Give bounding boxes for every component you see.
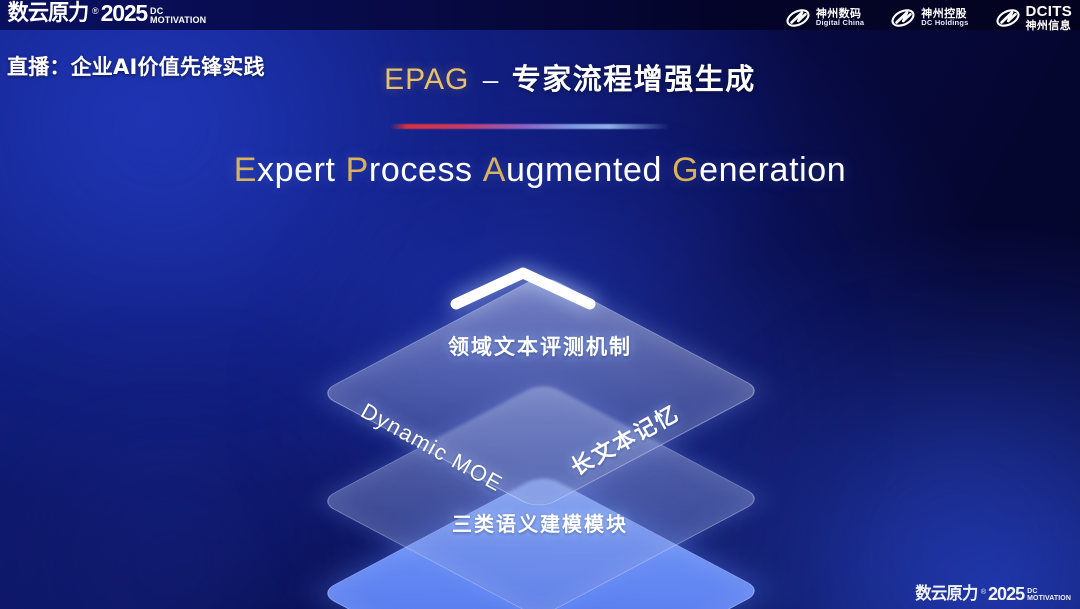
- subtitle-cap-e: E: [234, 151, 257, 189]
- logo-digital-china-text: 神州数码 Digital China: [816, 8, 864, 27]
- logo-dc-holdings: 神州控股 DC Holdings: [890, 7, 968, 29]
- dc-holdings-swoosh-icon: [890, 7, 916, 29]
- page-title-acronym: EPAG: [384, 63, 469, 96]
- watermark-registered-mark: ®: [981, 589, 986, 596]
- page-title-dash: –: [483, 64, 499, 95]
- digital-china-swoosh-icon: [785, 7, 811, 29]
- brand-year: 2025: [101, 2, 147, 25]
- brand-dc-line2: MOTIVATION: [150, 16, 206, 24]
- diagram-label-top: 领域文本评测机制: [0, 331, 1080, 361]
- logo-digital-china: 神州数码 Digital China: [785, 7, 864, 29]
- subtitle: Expert Process Augmented Generation: [0, 151, 1080, 190]
- subtitle-rest-augmented: ugmented: [506, 151, 662, 189]
- brand-logo-top-left: 数云原力 ® 2025 DC MOTIVATION: [6, 2, 206, 25]
- subtitle-rest-process: rocess: [369, 151, 473, 189]
- logo-label-cn: 神州信息: [1026, 20, 1073, 31]
- watermark-name-cn: 数云原力: [915, 586, 977, 603]
- page-title-cn: 专家流程增强生成: [512, 62, 756, 96]
- watermark-dc-motivation: DC MOTIVATION: [1027, 589, 1071, 602]
- brand-watermark-bottom-right: 数云原力 ® 2025 DC MOTIVATION: [914, 585, 1071, 603]
- diagram-label-bottom: 三类语义建模模块: [0, 508, 1080, 537]
- logo-label-en: Digital China: [816, 19, 864, 27]
- slide-canvas: 数云原力 ® 2025 DC MOTIVATION 直播：企业AI价值先锋实践 …: [0, 0, 1080, 609]
- brand-name-cn: 数云原力: [8, 3, 89, 25]
- partner-logo-group: 神州数码 Digital China 神州控股 DC Holdings: [785, 4, 1072, 31]
- brand-dc-motivation: DC MOTIVATION: [150, 7, 206, 24]
- logo-dcits: DCITS 神州信息: [995, 4, 1073, 31]
- watermark-dc-line2: MOTIVATION: [1027, 596, 1071, 602]
- logo-dcits-text: DCITS 神州信息: [1026, 4, 1073, 31]
- dcits-swoosh-icon: [995, 7, 1021, 29]
- subtitle-cap-p: P: [346, 151, 369, 189]
- gradient-divider: [390, 124, 670, 129]
- subtitle-cap-g: G: [672, 151, 699, 189]
- logo-dc-holdings-text: 神州控股 DC Holdings: [921, 8, 968, 27]
- chevron-up-icon: [448, 264, 598, 312]
- live-broadcast-title: 直播：企业AI价值先锋实践: [7, 51, 265, 81]
- logo-label-en: DCITS: [1026, 4, 1073, 20]
- logo-label-en: DC Holdings: [921, 19, 968, 27]
- subtitle-space-3: [662, 151, 672, 189]
- brand-registered-mark: ®: [92, 7, 99, 16]
- subtitle-cap-a: A: [483, 151, 506, 189]
- subtitle-rest-expert: xpert: [257, 151, 336, 189]
- subtitle-rest-generation: eneration: [699, 151, 846, 189]
- subtitle-space-2: [473, 151, 483, 189]
- watermark-year: 2025: [988, 585, 1024, 603]
- subtitle-space-1: [336, 151, 346, 189]
